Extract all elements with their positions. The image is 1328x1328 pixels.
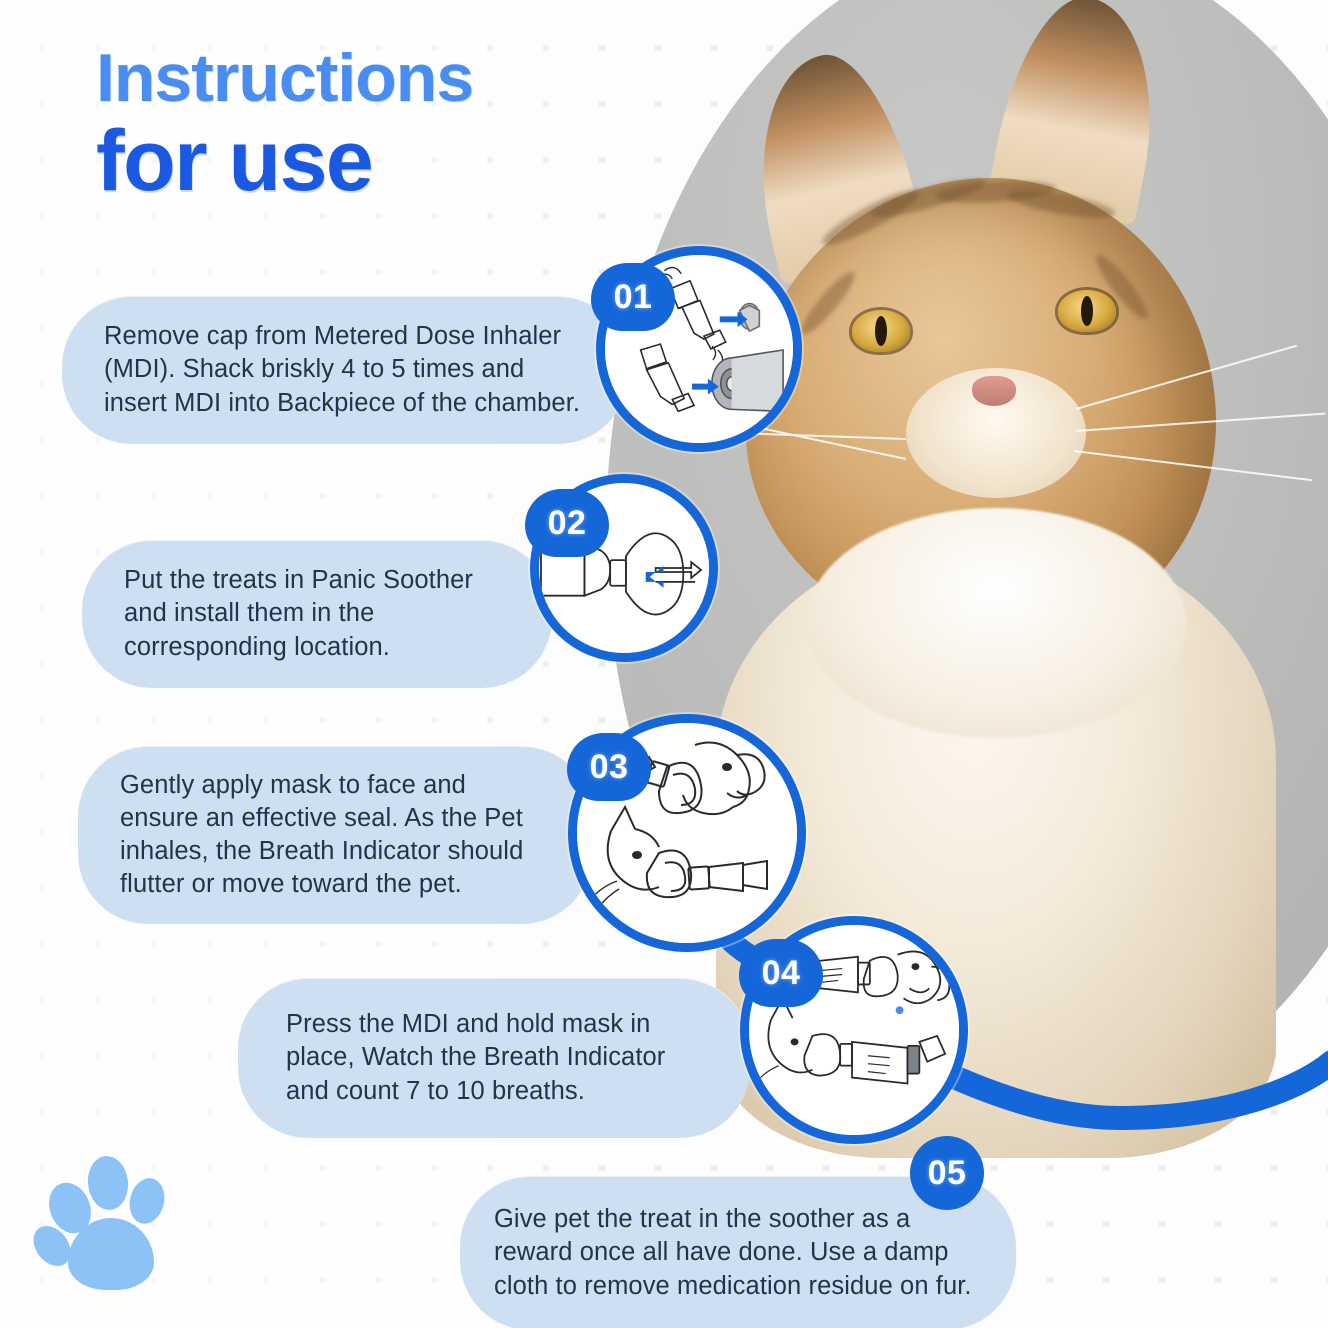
cat-eye-left xyxy=(852,310,910,352)
step-4-illustration-circle: 04 xyxy=(740,916,968,1144)
step-2-number-badge: 02 xyxy=(525,489,609,557)
step-4-number-badge: 04 xyxy=(739,939,823,1007)
step-1-text-bubble: Remove cap from Metered Dose Inhaler (MD… xyxy=(62,296,628,444)
step-1-text: Remove cap from Metered Dose Inhaler (MD… xyxy=(104,320,586,419)
step-1-number-badge: 01 xyxy=(591,263,675,331)
step-2-text-bubble: Put the treats in Panic Soother and inst… xyxy=(82,540,552,688)
infographic-canvas: NEOBAY Pet Asthma Inhaler 🐈 Instructions… xyxy=(0,0,1328,1328)
step-3-text: Gently apply mask to face and ensure an … xyxy=(120,769,550,902)
page-title-line1: Instructions xyxy=(96,44,473,112)
step-4-text-bubble: Press the MDI and hold mask in place, Wa… xyxy=(238,978,750,1138)
cat-ruff xyxy=(806,508,1186,738)
step-1-illustration-circle: 01 xyxy=(596,246,802,452)
step-5-text: Give pet the treat in the soother as a r… xyxy=(494,1203,982,1302)
page-title-line2: for use xyxy=(96,118,473,204)
step-4-text: Press the MDI and hold mask in place, Wa… xyxy=(286,1008,702,1107)
step-3-illustration-circle: 03 xyxy=(568,714,806,952)
step-2-illustration-circle: 02 xyxy=(530,474,718,662)
cat-nose xyxy=(972,376,1016,406)
page-title: Instructions for use xyxy=(96,44,473,204)
step-5-number-badge: 05 xyxy=(910,1136,984,1210)
step-2-text: Put the treats in Panic Soother and inst… xyxy=(124,564,510,663)
step-3-text-bubble: Gently apply mask to face and ensure an … xyxy=(78,746,592,924)
cat-eye-right xyxy=(1058,290,1116,332)
paw-print-icon xyxy=(36,1148,186,1294)
step-3-number-badge: 03 xyxy=(567,733,651,801)
